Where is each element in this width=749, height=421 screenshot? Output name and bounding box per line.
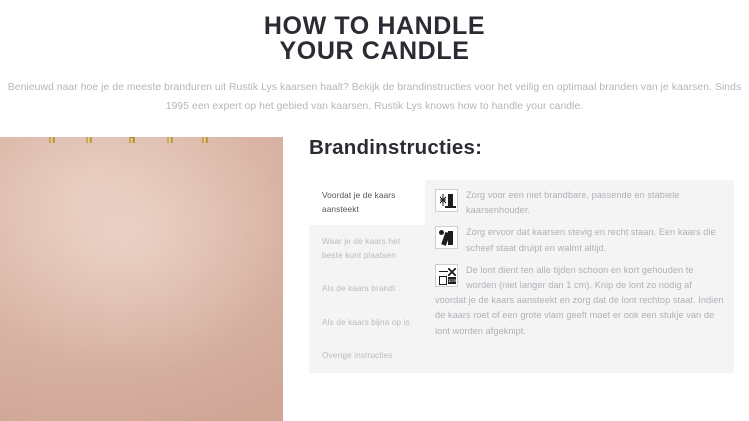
- sparkle-glyph: [440, 194, 446, 206]
- instruction-list: Zorg voor een niet brandbare, passende e…: [425, 180, 734, 373]
- tab-waar-plaatsen[interactable]: Waar je de kaars het beste kunt plaatsen: [309, 225, 425, 272]
- wick-trim-scissors-icon: 1cm: [435, 264, 458, 287]
- scissors-glyph: [448, 268, 456, 276]
- page-root: HOW TO HANDLE YOUR CANDLE Benieuwd naar …: [0, 0, 749, 421]
- candle-holder-icon: [435, 189, 458, 212]
- tab-overige-instructies[interactable]: Overige instructies: [309, 339, 425, 373]
- straight-candle-icon: [435, 226, 458, 249]
- instruction-text: Zorg ervoor dat kaarsen stevig en recht …: [435, 225, 724, 255]
- instruction-text: De lont dient ten alle tijden schoon en …: [435, 263, 724, 339]
- wick-line-glyph: [439, 271, 448, 272]
- tab-als-kaars-brandt[interactable]: Als de kaars brandt: [309, 272, 425, 306]
- page-title: HOW TO HANDLE YOUR CANDLE: [0, 0, 749, 64]
- tab-list: Voordat je de kaars aansteekt Waar je de…: [309, 180, 425, 373]
- instruction-row: Zorg voor een niet brandbare, passende e…: [435, 188, 724, 218]
- upright-candle-glyph: [448, 231, 453, 245]
- instruction-row: 1cm De lont dient ten alle tijden schoon…: [435, 263, 724, 339]
- instructions-section: Brandinstructies: Voordat je de kaars aa…: [309, 137, 739, 373]
- candle-photo: [0, 137, 283, 421]
- instruction-row: Zorg ervoor dat kaarsen stevig en recht …: [435, 225, 724, 255]
- tab-als-kaars-bijna-op[interactable]: Als de kaars bijna op is: [309, 306, 425, 340]
- section-heading: Brandinstructies:: [309, 137, 739, 159]
- instruction-text: Zorg voor een niet brandbare, passende e…: [435, 188, 724, 218]
- page-title-line-2: YOUR CANDLE: [0, 39, 749, 64]
- photo-vignette: [0, 137, 283, 421]
- holder-base-glyph: [445, 206, 456, 208]
- instructions-panel: Voordat je de kaars aansteekt Waar je de…: [309, 180, 734, 373]
- intro-paragraph: Benieuwd naar hoe je de meeste branduren…: [4, 78, 746, 116]
- candle-glyph: [448, 194, 453, 206]
- tab-voordat-aansteken[interactable]: Voordat je de kaars aansteekt: [309, 180, 425, 225]
- page-title-line-1: HOW TO HANDLE: [264, 12, 485, 40]
- measure-label: 1cm: [448, 277, 456, 284]
- candle-box-glyph: [439, 276, 447, 285]
